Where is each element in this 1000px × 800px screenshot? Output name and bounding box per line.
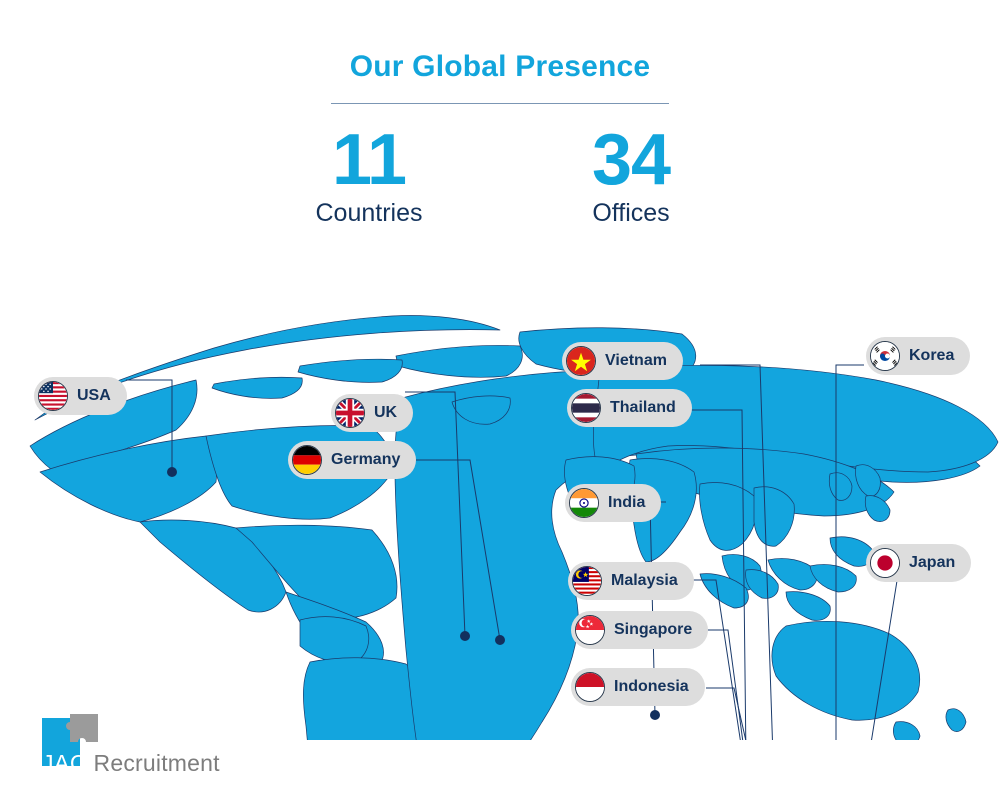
logo-brand-text: JAC [42, 750, 87, 776]
flag-thailand-icon [571, 393, 601, 423]
flag-germany-icon [292, 445, 322, 475]
map-label-india[interactable]: India [565, 484, 661, 522]
map-label-singapore-text: Singapore [614, 622, 692, 638]
stat-countries: 11 Countries [284, 126, 454, 226]
flag-malaysia-icon [572, 566, 602, 596]
flag-singapore-icon [575, 615, 605, 645]
flag-japan-icon [870, 548, 900, 578]
world-map-container [0, 270, 1000, 740]
stat-offices-label: Offices [546, 201, 716, 226]
map-label-vietnam-text: Vietnam [605, 353, 667, 369]
map-label-thailand[interactable]: Thailand [567, 389, 692, 427]
jac-recruitment-logo: JAC Recruitment [42, 712, 272, 780]
map-label-malaysia[interactable]: Malaysia [568, 562, 694, 600]
stats-row: 11 Countries 34 Offices [0, 126, 1000, 226]
map-label-indonesia[interactable]: Indonesia [571, 668, 705, 706]
stat-countries-label: Countries [284, 201, 454, 226]
map-label-thailand-text: Thailand [610, 400, 676, 416]
world-map-graphic [0, 270, 1000, 740]
title-divider [331, 103, 669, 104]
map-label-usa[interactable]: USA [34, 377, 127, 415]
stat-offices: 34 Offices [546, 126, 716, 226]
map-label-korea[interactable]: Korea [866, 337, 970, 375]
flag-korea-icon [870, 341, 900, 371]
header: Our Global Presence [0, 0, 1000, 104]
map-label-india-text: India [608, 495, 645, 511]
map-label-vietnam[interactable]: Vietnam [562, 342, 683, 380]
map-label-malaysia-text: Malaysia [611, 573, 678, 589]
map-label-uk[interactable]: UK [331, 394, 413, 432]
map-label-germany-text: Germany [331, 452, 400, 468]
map-label-japan[interactable]: Japan [866, 544, 971, 582]
map-label-japan-text: Japan [909, 555, 955, 571]
map-label-usa-text: USA [77, 388, 111, 404]
stat-offices-value: 34 [546, 126, 716, 195]
logo-wordmark: JAC Recruitment [42, 748, 272, 778]
map-label-germany[interactable]: Germany [288, 441, 416, 479]
page-title: Our Global Presence [0, 52, 1000, 82]
flag-indonesia-icon [575, 672, 605, 702]
map-label-uk-text: UK [374, 405, 397, 421]
map-label-korea-text: Korea [909, 348, 954, 364]
flag-usa-icon [38, 381, 68, 411]
map-label-indonesia-text: Indonesia [614, 679, 689, 695]
flag-vietnam-icon [566, 346, 596, 376]
flag-uk-icon [335, 398, 365, 428]
stat-countries-value: 11 [284, 126, 454, 195]
logo-suffix-text: Recruitment [87, 750, 220, 776]
map-label-singapore[interactable]: Singapore [571, 611, 708, 649]
flag-india-icon [569, 488, 599, 518]
